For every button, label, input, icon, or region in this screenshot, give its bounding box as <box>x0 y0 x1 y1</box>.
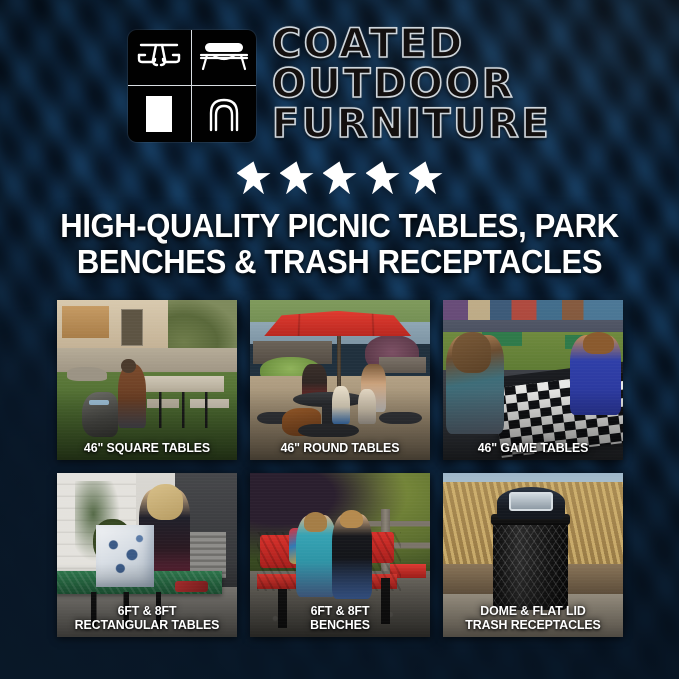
product-tile-trash-receptacles[interactable]: DOME & FLAT LID TRASH RECEPTACLES <box>443 473 623 637</box>
bike-rack-icon <box>192 86 256 142</box>
trash-receptacle-icon <box>128 86 192 142</box>
brand-name-line-3: FURNITURE <box>272 106 551 143</box>
caption-line-1: 6FT & 8FT <box>64 604 229 618</box>
product-tile-caption: 46" ROUND TABLES <box>254 441 425 455</box>
headline-line-2: BENCHES & TRASH RECEPTACLES <box>34 244 646 280</box>
product-tile-game-tables[interactable]: 46" GAME TABLES <box>443 300 623 460</box>
product-photo-round-tables <box>250 300 430 460</box>
caption-line-1: 46" ROUND TABLES <box>257 441 422 455</box>
product-photo-game-tables <box>443 300 623 460</box>
star-icon <box>409 161 443 194</box>
product-tile-grid: 46" SQUARE TABLES <box>57 300 623 637</box>
promo-banner: COATED OUTDOOR FURNITURE HIGH-QUALITY PI… <box>0 0 679 679</box>
product-tile-caption: DOME & FLAT LID TRASH RECEPTACLES <box>447 604 618 631</box>
product-tile-caption: 6FT & 8FT BENCHES <box>254 604 425 631</box>
banner-content: COATED OUTDOOR FURNITURE HIGH-QUALITY PI… <box>0 0 679 679</box>
caption-line-1: 46" SQUARE TABLES <box>64 441 229 455</box>
product-tile-caption: 46" SQUARE TABLES <box>61 441 232 455</box>
headline: HIGH-QUALITY PICNIC TABLES, PARK BENCHES… <box>34 208 646 279</box>
brand-name-line-1: COATED <box>272 26 465 63</box>
caption-line-2: RECTANGULAR TABLES <box>64 618 229 632</box>
caption-line-2: TRASH RECEPTACLES <box>450 618 615 632</box>
brand-name-line-2: OUTDOOR <box>272 66 515 103</box>
headline-line-1: HIGH-QUALITY PICNIC TABLES, PARK <box>34 208 646 244</box>
product-tile-benches[interactable]: 6FT & 8FT BENCHES <box>250 473 430 637</box>
logo-icon-grid <box>128 30 256 142</box>
star-icon <box>237 161 271 194</box>
star-rating <box>0 161 679 194</box>
product-tile-round-tables[interactable]: 46" ROUND TABLES <box>250 300 430 460</box>
brand-logo: COATED OUTDOOR FURNITURE <box>0 0 679 145</box>
product-tile-rectangular-tables[interactable]: 6FT & 8FT RECTANGULAR TABLES <box>57 473 237 637</box>
product-tile-caption: 46" GAME TABLES <box>447 441 618 455</box>
star-icon <box>323 161 357 194</box>
star-icon <box>280 161 314 194</box>
product-photo-square-tables <box>57 300 237 460</box>
caption-line-2: BENCHES <box>257 618 422 632</box>
star-icon <box>366 161 400 194</box>
product-tile-caption: 6FT & 8FT RECTANGULAR TABLES <box>61 604 232 631</box>
caption-line-1: 6FT & 8FT <box>257 604 422 618</box>
caption-line-1: 46" GAME TABLES <box>450 441 615 455</box>
picnic-table-icon <box>128 30 192 86</box>
park-bench-icon <box>192 30 256 86</box>
brand-name: COATED OUTDOOR FURNITURE <box>272 26 551 145</box>
product-tile-square-tables[interactable]: 46" SQUARE TABLES <box>57 300 237 460</box>
caption-line-1: DOME & FLAT LID <box>450 604 615 618</box>
